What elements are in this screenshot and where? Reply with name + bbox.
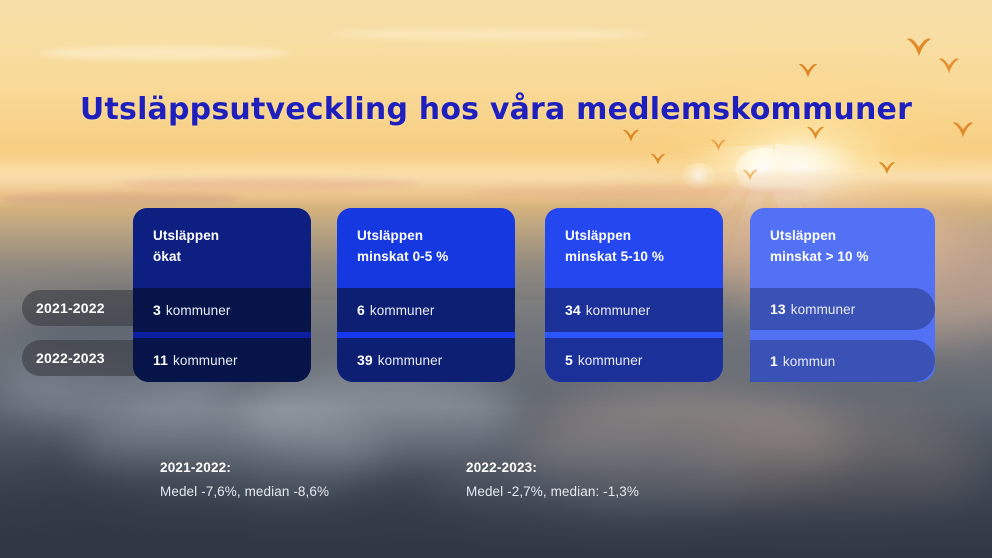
row-divider [750,330,935,340]
column-header-line2: minskat 0-5 % [357,247,499,268]
table-column-minskat-0-5: Utsläppen minskat 0-5 % 6 kommuner 39 ko… [337,208,515,382]
column-header-line1: Utsläppen [357,226,499,247]
table-row: 34 kommuner [545,288,723,332]
summary-note-2021-2022: 2021-2022: Medel -7,6%, median -8,6% [160,460,329,499]
summary-note-2022-2023: 2022-2023: Medel -2,7%, median: -1,3% [466,460,639,499]
column-header-line2: ökat [153,247,295,268]
table-row: 6 kommuner [337,288,515,332]
cell-unit: kommuner [173,353,238,368]
table-column-minskat-over-10: Utsläppen minskat > 10 % 13 kommuner 1 k… [750,208,935,382]
row-label-text: 2022-2023 [36,350,105,366]
table-row: 39 kommuner [337,338,515,382]
column-body: 6 kommuner 39 kommuner [337,288,515,382]
cell-number: 11 [153,352,168,368]
summary-note-title: 2021-2022: [160,460,329,475]
column-body: 3 kommuner 11 kommuner [133,288,311,382]
summary-note-text: Medel -2,7%, median: -1,3% [466,484,639,499]
cell-unit: kommun [783,354,835,369]
cell-unit: kommuner [586,303,651,318]
cell-number: 3 [153,302,161,318]
summary-note-text: Medel -7,6%, median -8,6% [160,484,329,499]
column-header-line1: Utsläppen [153,226,295,247]
summary-note-title: 2022-2023: [466,460,639,475]
cell-number: 39 [357,352,373,368]
table-column-minskat-5-10: Utsläppen minskat 5-10 % 34 kommuner 5 k… [545,208,723,382]
column-header-line2: minskat > 10 % [770,247,919,268]
row-label-text: 2021-2022 [36,300,105,316]
table-column-okat: Utsläppen ökat 3 kommuner 11 kommuner [133,208,311,382]
cell-number: 5 [565,352,573,368]
cell-unit: kommuner [791,302,856,317]
column-header: Utsläppen minskat 5-10 % [545,208,723,288]
column-header: Utsläppen minskat 0-5 % [337,208,515,288]
slide: Utsläppsutveckling hos våra medlemskommu… [0,0,992,558]
cell-unit: kommuner [378,353,443,368]
table-row: 13 kommuner [750,288,935,330]
table-row: 11 kommuner [133,338,311,382]
column-body: 34 kommuner 5 kommuner [545,288,723,382]
column-header-line1: Utsläppen [565,226,707,247]
column-header: Utsläppen minskat > 10 % [750,208,935,288]
table-row: 1 kommun [750,340,935,382]
cell-number: 34 [565,302,581,318]
column-header-line2: minskat 5-10 % [565,247,707,268]
table-row: 5 kommuner [545,338,723,382]
cell-number: 6 [357,302,365,318]
cell-unit: kommuner [578,353,643,368]
cell-unit: kommuner [166,303,231,318]
cell-number: 1 [770,353,778,369]
table-row: 3 kommuner [133,288,311,332]
column-body: 13 kommuner 1 kommun [750,288,935,382]
column-header-line1: Utsläppen [770,226,919,247]
cell-unit: kommuner [370,303,435,318]
cell-number: 13 [770,301,786,317]
column-header: Utsläppen ökat [133,208,311,288]
